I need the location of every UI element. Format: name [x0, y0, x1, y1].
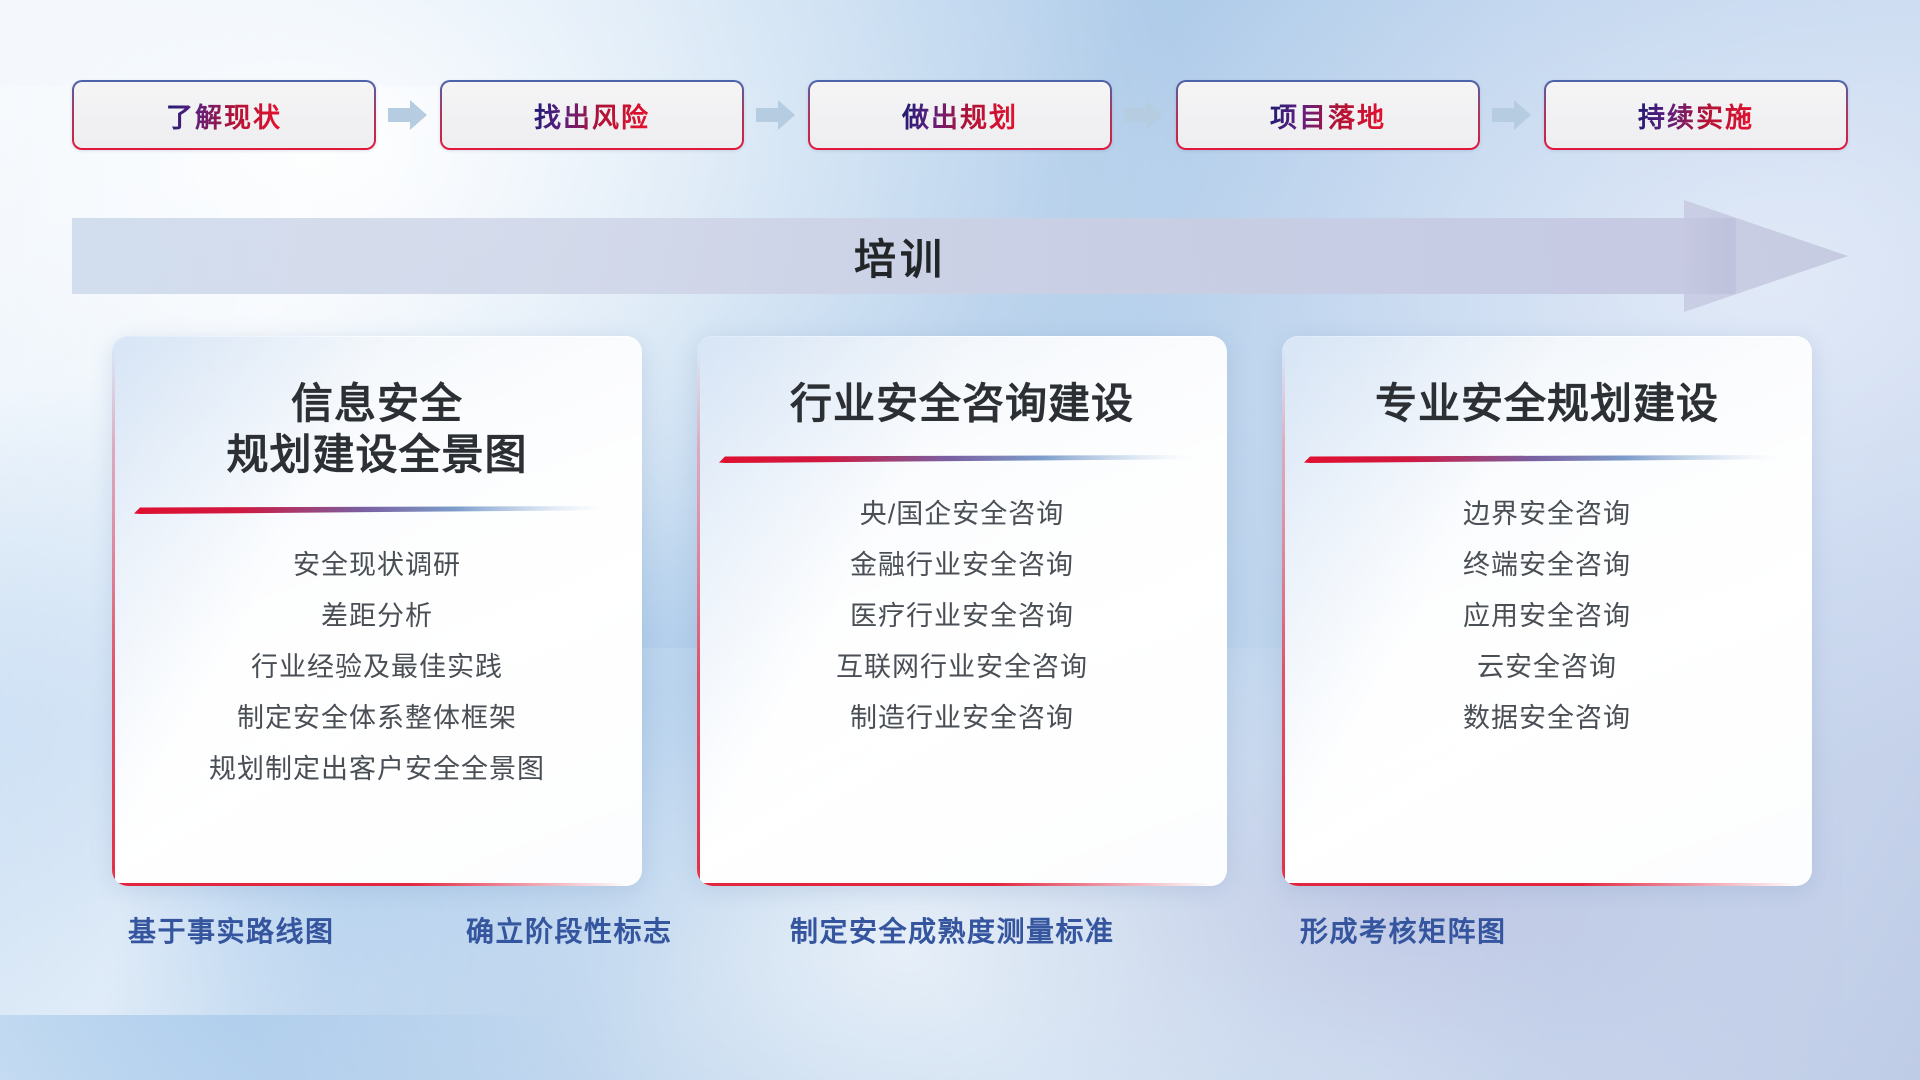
list-item: 医疗行业安全咨询 [697, 591, 1227, 642]
step-inner-5: 持续实施 [1546, 82, 1846, 148]
card-title-1-line2: 规划建设全景图 [132, 429, 622, 480]
card-divider-1 [134, 506, 608, 514]
footnote-1: 基于事实路线图 [128, 910, 335, 950]
step-label-5: 持续实施 [1638, 96, 1754, 135]
list-item: 数据安全咨询 [1282, 693, 1812, 744]
step-label-3: 做出规划 [902, 96, 1018, 135]
list-item: 制造行业安全咨询 [697, 693, 1227, 744]
list-item: 央/国企安全咨询 [697, 489, 1227, 540]
step-box-5[interactable]: 持续实施 [1544, 80, 1848, 150]
arrow-right-icon [1124, 98, 1164, 132]
list-item: 终端安全咨询 [1282, 540, 1812, 591]
footnote-4: 形成考核矩阵图 [1300, 910, 1507, 950]
list-item: 安全现状调研 [112, 540, 642, 591]
step-inner-4: 项目落地 [1178, 82, 1478, 148]
card-professional-security-planning[interactable]: 专业安全规划建设 [1282, 336, 1812, 886]
arrow-right-icon [1492, 98, 1532, 132]
step-box-2[interactable]: 找出风险 [440, 80, 744, 150]
step-label-1: 了解现状 [166, 96, 282, 135]
card-list-3: 边界安全咨询 终端安全咨询 应用安全咨询 云安全咨询 数据安全咨询 [1282, 489, 1812, 744]
slide-stage: 了解现状 找出风险 做出规划 项目落地 [0, 0, 1920, 1080]
card-row: 信息安全 规划建设全景图 [112, 336, 1812, 886]
arrow-right-icon [756, 98, 796, 132]
list-item: 云安全咨询 [1282, 642, 1812, 693]
card-list-1: 安全现状调研 差距分析 行业经验及最佳实践 制定安全体系整体框架 规划制定出客户… [112, 540, 642, 795]
card-list-2: 央/国企安全咨询 金融行业安全咨询 医疗行业安全咨询 互联网行业安全咨询 制造行… [697, 489, 1227, 744]
step-inner-3: 做出规划 [810, 82, 1110, 148]
card-title-3: 专业安全规划建设 [1282, 336, 1812, 429]
card-information-security-blueprint[interactable]: 信息安全 规划建设全景图 [112, 336, 642, 886]
card-title-2-line1: 行业安全咨询建设 [790, 380, 1134, 427]
list-item: 差距分析 [112, 591, 642, 642]
step-inner-1: 了解现状 [74, 82, 374, 148]
list-item: 行业经验及最佳实践 [112, 642, 642, 693]
footnote-row: 基于事实路线图 确立阶段性标志 制定安全成熟度测量标准 形成考核矩阵图 [0, 910, 1920, 980]
list-item: 应用安全咨询 [1282, 591, 1812, 642]
list-item: 规划制定出客户安全全景图 [112, 744, 642, 795]
list-item: 制定安全体系整体框架 [112, 693, 642, 744]
card-divider-2 [719, 455, 1193, 463]
banner-label: 培训 [72, 200, 1848, 312]
card-title-2: 行业安全咨询建设 [697, 336, 1227, 429]
step-label-2: 找出风险 [534, 96, 650, 135]
card-title-1: 信息安全 规划建设全景图 [112, 336, 642, 480]
card-title-1-line1: 信息安全 [291, 380, 463, 427]
list-item: 互联网行业安全咨询 [697, 642, 1227, 693]
list-item: 边界安全咨询 [1282, 489, 1812, 540]
footnote-2: 确立阶段性标志 [466, 910, 673, 950]
step-box-1[interactable]: 了解现状 [72, 80, 376, 150]
step-box-4[interactable]: 项目落地 [1176, 80, 1480, 150]
card-title-3-line1: 专业安全规划建设 [1375, 380, 1719, 427]
process-step-row: 了解现状 找出风险 做出规划 项目落地 [72, 80, 1848, 150]
training-banner: 培训 [72, 200, 1848, 312]
card-industry-security-consulting[interactable]: 行业安全咨询建设 [697, 336, 1227, 886]
arrow-right-icon [388, 98, 428, 132]
step-label-4: 项目落地 [1270, 96, 1386, 135]
footnote-3: 制定安全成熟度测量标准 [790, 910, 1115, 950]
step-inner-2: 找出风险 [442, 82, 742, 148]
step-box-3[interactable]: 做出规划 [808, 80, 1112, 150]
list-item: 金融行业安全咨询 [697, 540, 1227, 591]
card-divider-3 [1304, 455, 1778, 463]
